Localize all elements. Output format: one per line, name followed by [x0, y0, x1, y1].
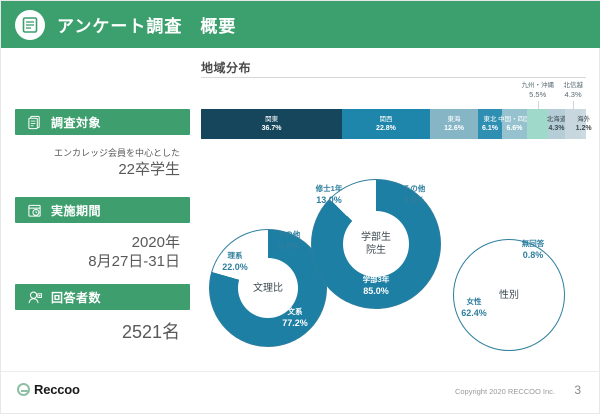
donut-label-muikaito: 無回答 0.8% [509, 239, 557, 261]
respondents-main: 2521名 [15, 321, 180, 344]
donut-chart-bunrihi: 文理比 文系 77.2% 理系 22.0% その他 0.8% [209, 229, 327, 347]
bar-segment-value: 12.6% [444, 124, 464, 133]
bar-callout-hokushinetsu-value: 4.3% [549, 90, 597, 100]
sidebar-label-survey-target: 調査対象 [51, 114, 101, 131]
donut-label-bunkei: 文系 77.2% [267, 307, 323, 329]
bar-segment-label: 関東 [265, 116, 278, 124]
bar-callout-leader-kyushu [538, 101, 539, 109]
bar-callout-hokushinetsu-name: 北信越 [549, 81, 597, 90]
page-title: アンケート調査 概要 [57, 12, 236, 37]
sidebar-item-survey-target: 調査対象 [15, 109, 190, 135]
bar-segment-4: 東北6.1% [478, 109, 501, 139]
calendar-clock-icon [27, 203, 42, 218]
donut-chart-gakubusei: 学部生 院生 学部3年 85.0% 修士1年 13.0% その他 2.0% [311, 179, 441, 309]
bar-segment-2: 関西22.8% [342, 109, 430, 139]
reccoo-logo-icon [17, 383, 30, 396]
bar-segment-label: 中国・四国 [498, 116, 531, 124]
donut-label-josei: 女性 62.4% [449, 297, 499, 319]
copyright-text: Copyright 2020 RECCOO Inc. [455, 387, 555, 396]
reccoo-logo-text: Reccoo [34, 382, 80, 397]
bar-segment-value: 22.8% [376, 124, 396, 133]
footer-divider [1, 371, 600, 372]
bar-segment-label: 海外 [577, 116, 590, 124]
donut-label-rikei: 理系 22.0% [211, 251, 259, 273]
section-title-region: 地域分布 [201, 59, 251, 76]
person-icon [27, 290, 42, 305]
region-distribution-bar: 関東36.7%関西22.8%東海12.6%東北6.1%中国・四国6.6%北海道4… [201, 109, 586, 139]
bar-segment-5: 中国・四国6.6% [502, 109, 527, 139]
sidebar-item-respondents: 回答者数 [15, 284, 190, 310]
respondents-value: 2521名 [15, 321, 190, 344]
page-number: 3 [574, 383, 581, 397]
bar-segment-value: 4.3% [549, 124, 565, 133]
donut-label-sonota-bunrihi: その他 0.8% [267, 230, 311, 252]
period-value: 2020年 8月27日-31日 [15, 233, 190, 271]
bar-segment-value: 36.7% [262, 124, 282, 133]
bar-segment-value: 6.6% [506, 124, 522, 133]
bar-segment-label: 北海道 [547, 116, 567, 124]
sidebar-label-period: 実施期間 [51, 202, 101, 219]
slide-header: アンケート調査 概要 [1, 1, 600, 48]
donut-label-shushi1nen: 修士1年 13.0% [303, 184, 355, 206]
bar-segment-value: 6.1% [482, 124, 498, 133]
bar-segment-1: 関東36.7% [201, 109, 342, 139]
survey-document-icon [15, 10, 45, 40]
section-divider [201, 77, 586, 78]
donut-center-label-gakubusei-1: 学部生 [361, 231, 391, 244]
reccoo-logo: Reccoo [17, 382, 80, 397]
bar-segment-3: 東海12.6% [430, 109, 478, 139]
bar-callout-hokushinetsu: 北信越 4.3% [549, 81, 597, 100]
period-main: 8月27日-31日 [15, 252, 180, 271]
donut-center-label-bunrihi: 文理比 [253, 282, 283, 295]
slide: アンケート調査 概要 調査対象 エンカレッジ会員を中心とした 22卒学生 [0, 0, 600, 414]
bar-segment-label: 東北 [484, 116, 497, 124]
bar-segment-value: 1.2% [576, 124, 592, 133]
donut-chart-seibetsu: 性別 女性 62.4% 男性 36.8% 無回答 0.8% [453, 239, 565, 351]
survey-target-main: 22卒学生 [15, 160, 180, 179]
donut-label-dansei: 男性 36.8% [519, 275, 567, 297]
sidebar-item-period: 実施期間 [15, 197, 190, 223]
sidebar-label-respondents: 回答者数 [51, 289, 101, 306]
donut-center-label-gakubusei-2: 院生 [366, 244, 386, 257]
bar-segment-9: 海外1.2% [581, 109, 586, 139]
donut-label-sonota-gakubusei: その他 2.0% [391, 184, 437, 206]
bar-segment-7: 北海道4.3% [548, 109, 565, 139]
document-icon [27, 115, 42, 130]
donut-center-label-seibetsu: 性別 [499, 289, 519, 302]
period-year: 2020年 [15, 233, 180, 252]
bar-segment-6 [527, 109, 548, 139]
bar-segment-label: 関西 [379, 116, 392, 124]
donut-center-gakubusei: 学部生 院生 [343, 211, 409, 277]
survey-target-value: エンカレッジ会員を中心とした 22卒学生 [15, 146, 190, 179]
survey-target-line1: エンカレッジ会員を中心とした [15, 146, 180, 160]
bar-segment-label: 東海 [448, 116, 461, 124]
bar-callout-leader-hokushinetsu [573, 101, 574, 109]
donut-label-gakubu3nen: 学部3年 85.0% [348, 275, 404, 297]
